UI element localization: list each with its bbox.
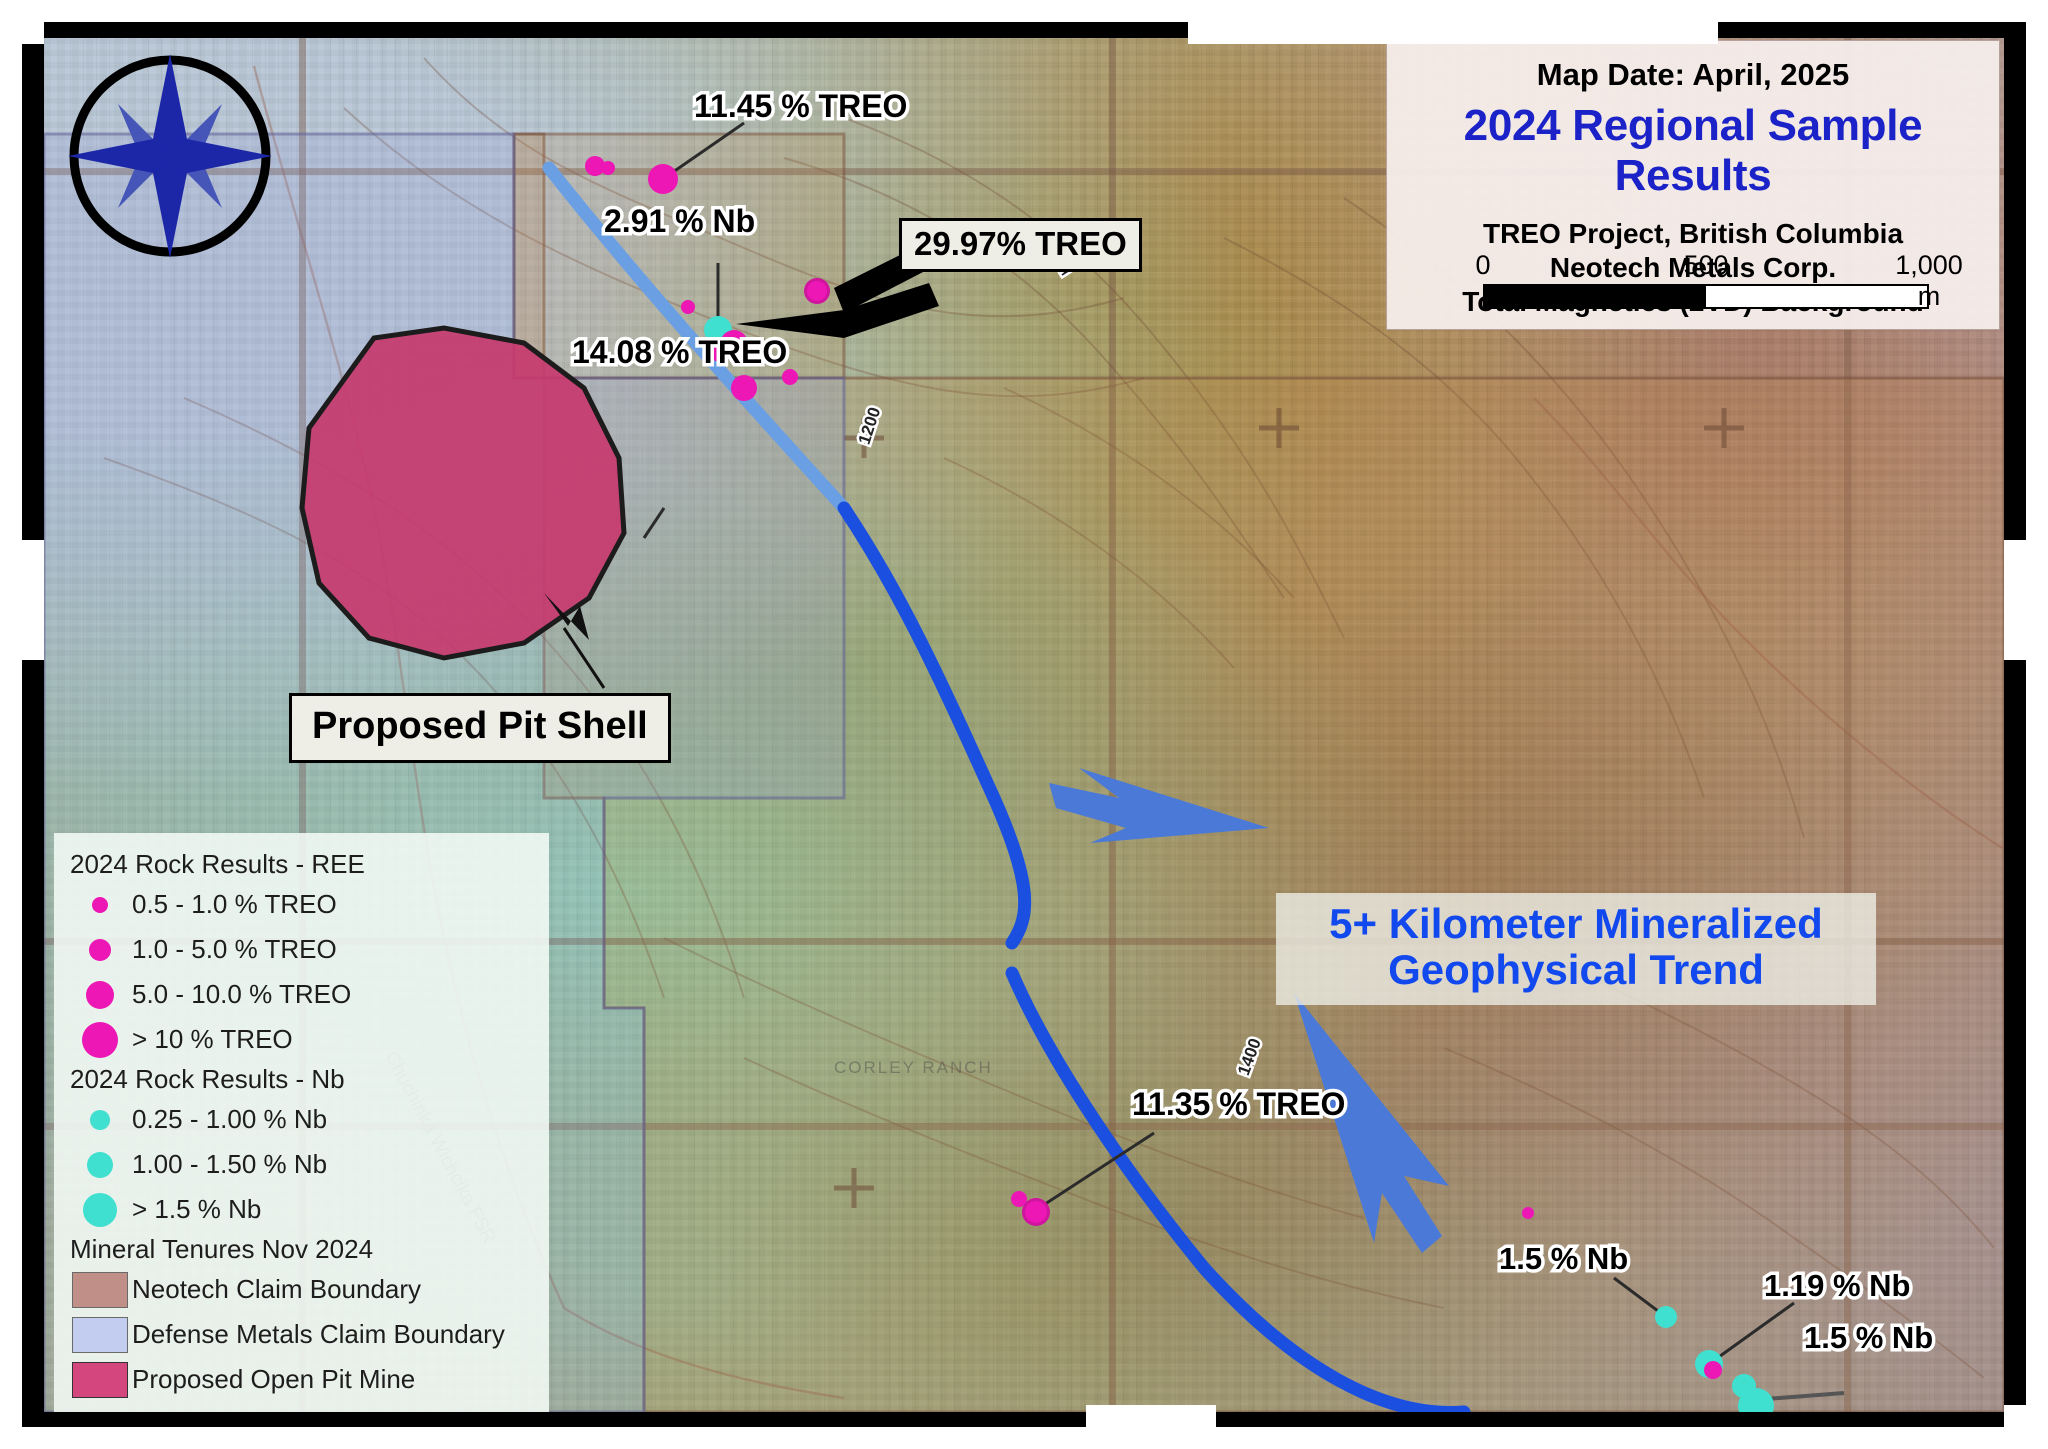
subtitle-line-1: TREO Project, British Columbia	[1387, 217, 1999, 251]
map-canvas[interactable]: 1000 1200 1400 Chuchinka Wichcika FSR CO…	[44, 38, 2004, 1412]
pit-mine-swatch	[72, 1362, 128, 1398]
legend-item[interactable]: 0.5 - 1.0 % TREO	[68, 882, 549, 927]
trend-callout-line2: Geophysical Trend	[1290, 947, 1862, 993]
sample-label: 14.08 % TREO	[572, 334, 787, 371]
scale-bar-ticks: 0 500 1,000 m	[1483, 250, 1929, 284]
scale-tick-1000: 1,000 m	[1895, 250, 1963, 312]
legend-item-label: 5.0 - 10.0 % TREO	[132, 979, 351, 1010]
legend-item[interactable]: 0.25 - 1.00 % Nb	[68, 1097, 549, 1142]
scale-tick-500: 500	[1683, 250, 1728, 281]
ree-dot-icon	[92, 897, 108, 913]
sample-point[interactable]	[1022, 1198, 1050, 1226]
sample-label: 11.35 % TREO	[1132, 1086, 1345, 1123]
sample-point[interactable]	[804, 278, 830, 304]
scale-bar: 0 500 1,000 m	[1483, 250, 1929, 309]
legend-group-ree: 2024 Rock Results - REE 0.5 - 1.0 % TREO…	[68, 849, 549, 1062]
legend-item-label: 1.0 - 5.0 % TREO	[132, 934, 337, 965]
trend-callout-line1: 5+ Kilometer Mineralized	[1290, 901, 1862, 947]
leader-pit-shell	[564, 628, 604, 688]
neotech-claim-swatch	[72, 1272, 128, 1308]
title-card: Map Date: April, 2025 2024 Regional Samp…	[1386, 40, 2000, 330]
legend-item[interactable]: 1.0 - 5.0 % TREO	[68, 927, 549, 972]
ree-dot-icon	[89, 939, 111, 961]
legend-group-tenures: Mineral Tenures Nov 2024 Neotech Claim B…	[68, 1234, 549, 1402]
legend-swatch	[68, 1272, 132, 1308]
page-title: 2024 Regional Sample Results	[1387, 101, 1999, 201]
sample-point[interactable]	[1522, 1207, 1534, 1219]
scale-segment-dark	[1485, 286, 1706, 307]
legend-item-label: 0.5 - 1.0 % TREO	[132, 889, 337, 920]
legend-item-label: Proposed Open Pit Mine	[132, 1364, 415, 1395]
legend-item-label: Defense Metals Claim Boundary	[132, 1319, 505, 1350]
legend-swatch	[68, 1362, 132, 1398]
nb-dot-icon	[90, 1110, 110, 1130]
legend-item-label: Neotech Claim Boundary	[132, 1274, 421, 1305]
legend-item[interactable]: > 10 % TREO	[68, 1017, 549, 1062]
legend-item-label: > 1.5 % Nb	[132, 1194, 261, 1225]
legend-swatch	[68, 981, 132, 1009]
legend-item[interactable]: Proposed Open Pit Mine	[68, 1357, 549, 1402]
legend-group-heading: Mineral Tenures Nov 2024	[70, 1234, 549, 1265]
ree-dot-icon	[82, 1022, 118, 1058]
leader-1408	[644, 508, 664, 538]
legend-item-label: 1.00 - 1.50 % Nb	[132, 1149, 327, 1180]
frame-notch-top	[1188, 18, 1718, 44]
pit-shell-callout: Proposed Pit Shell	[289, 693, 671, 763]
leader-1135	[1039, 1133, 1154, 1208]
frame-notch-left-mid	[18, 540, 44, 660]
leader-119nb	[1709, 1303, 1794, 1364]
nb-dot-icon	[87, 1152, 113, 1178]
legend-swatch	[68, 1110, 132, 1130]
sample-label: 1.5 % Nb	[1804, 1320, 1933, 1356]
legend-item[interactable]: Defense Metals Claim Boundary	[68, 1312, 549, 1357]
scale-segment-light	[1706, 286, 1927, 307]
defense-claim-swatch	[72, 1317, 128, 1353]
geophysical-trend-callout: 5+ Kilometer Mineralized Geophysical Tre…	[1276, 893, 1876, 1005]
sample-point[interactable]	[731, 375, 757, 401]
legend-item[interactable]: > 1.5 % Nb	[68, 1187, 549, 1232]
sample-point[interactable]	[1704, 1361, 1722, 1379]
legend-swatch	[68, 939, 132, 961]
frame-notch-right-mid	[2004, 540, 2030, 660]
legend-item-label: 0.25 - 1.00 % Nb	[132, 1104, 327, 1135]
ree-dot-icon	[86, 981, 114, 1009]
legend-item[interactable]: Neotech Claim Boundary	[68, 1267, 549, 1312]
sample-point[interactable]	[601, 161, 615, 175]
legend-item[interactable]: 5.0 - 10.0 % TREO	[68, 972, 549, 1017]
sample-point[interactable]	[681, 300, 695, 314]
frame-notch-left-upper	[18, 22, 44, 40]
sample-label-boxed: 29.97% TREO	[899, 218, 1142, 272]
sample-label: 11.45 % TREO	[694, 88, 907, 125]
legend-swatch	[68, 897, 132, 913]
legend-item-label: > 10 % TREO	[132, 1024, 293, 1055]
map-date: Map Date: April, 2025	[1387, 57, 1999, 93]
legend-item[interactable]: 1.00 - 1.50 % Nb	[68, 1142, 549, 1187]
frame-notch-right-lower	[2004, 1407, 2030, 1427]
legend-swatch	[68, 1317, 132, 1353]
legend-group-heading: 2024 Rock Results - REE	[70, 849, 549, 880]
sample-label: 1.19 % Nb	[1764, 1268, 1910, 1304]
sample-point[interactable]	[1655, 1306, 1677, 1328]
sample-label: 1.5 % Nb	[1499, 1241, 1628, 1277]
legend-group-heading: 2024 Rock Results - Nb	[70, 1064, 549, 1095]
sample-point[interactable]	[782, 369, 798, 385]
frame-notch-bottom	[1086, 1405, 1216, 1431]
legend-panel: 2024 Rock Results - REE 0.5 - 1.0 % TREO…	[54, 833, 549, 1412]
nb-dot-icon	[83, 1193, 117, 1227]
legend-group-nb: 2024 Rock Results - Nb 0.25 - 1.00 % Nb …	[68, 1064, 549, 1232]
sample-label: 2.91 % Nb	[604, 203, 755, 240]
legend-swatch	[68, 1152, 132, 1178]
legend-swatch	[68, 1022, 132, 1058]
scale-tick-0: 0	[1475, 250, 1490, 281]
sample-point[interactable]	[648, 164, 678, 194]
scale-bar-graphic	[1483, 284, 1929, 309]
map-screenshot: 1000 1200 1400 Chuchinka Wichcika FSR CO…	[0, 0, 2048, 1449]
legend-swatch	[68, 1193, 132, 1227]
